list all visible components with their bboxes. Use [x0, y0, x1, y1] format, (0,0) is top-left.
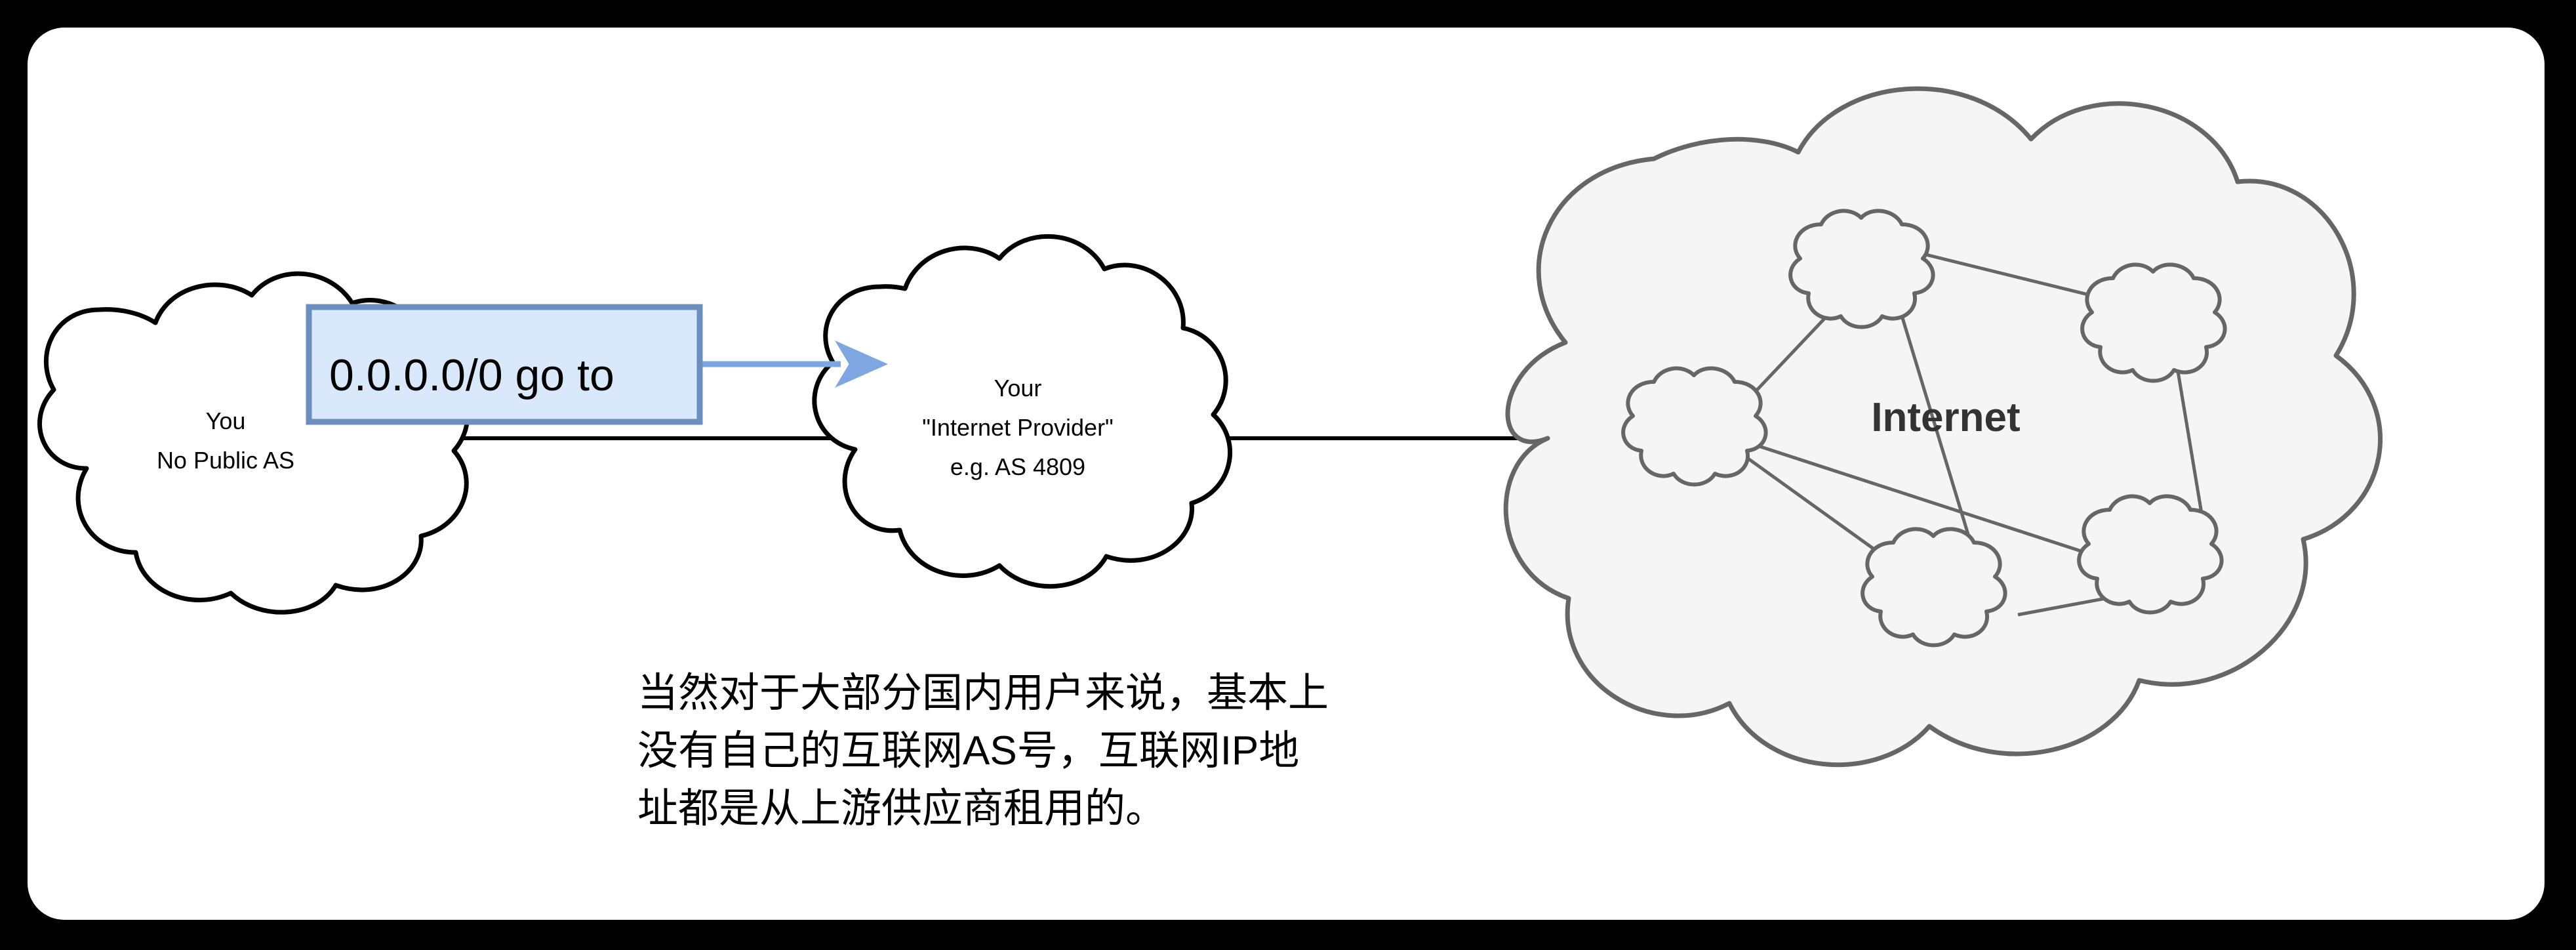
internet-node-top-shape [1790, 211, 1933, 327]
screenshot-root: You No Public AS Your "Internet Provider… [0, 0, 2576, 950]
internet-node-left[interactable] [1623, 368, 1765, 484]
you-cloud-label-line1: You [206, 407, 246, 434]
internet-node-top[interactable] [1790, 211, 1933, 327]
isp-cloud[interactable]: Your "Internet Provider" e.g. AS 4809 [815, 236, 1230, 586]
isp-cloud-label-line2: "Internet Provider" [922, 414, 1114, 441]
caption-block: 当然对于大部分国内用户来说，基本上 没有自己的互联网AS号，互联网IP地 址都是… [637, 671, 1329, 831]
internet-cloud[interactable]: Internet [1506, 89, 2380, 765]
isp-cloud-shape [815, 236, 1230, 586]
internet-node-bottom[interactable] [1862, 529, 2005, 645]
callout-box[interactable]: 0.0.0.0/0 go to [309, 307, 700, 422]
callout-box-label: 0.0.0.0/0 go to [329, 350, 614, 400]
internet-cloud-label: Internet [1871, 395, 2020, 440]
internet-node-bottom-right[interactable] [2079, 496, 2221, 612]
internet-node-right[interactable] [2082, 264, 2224, 381]
internet-node-left-shape [1623, 368, 1765, 484]
network-diagram: You No Public AS Your "Internet Provider… [28, 28, 2545, 920]
internet-node-bottom-shape [1862, 529, 2005, 645]
isp-cloud-label-line3: e.g. AS 4809 [950, 453, 1085, 480]
you-cloud-label-line2: No Public AS [157, 447, 294, 474]
isp-cloud-label-line1: Your [994, 375, 1042, 402]
caption-line-1: 当然对于大部分国内用户来说，基本上 [637, 671, 1329, 716]
diagram-canvas: You No Public AS Your "Internet Provider… [28, 28, 2545, 920]
internet-node-right-shape [2082, 264, 2224, 381]
caption-line-2: 没有自己的互联网AS号，互联网IP地 [637, 728, 1299, 774]
caption-line-3: 址都是从上游供应商租用的。 [637, 786, 1166, 831]
internet-node-bottom-right-shape [2079, 496, 2221, 612]
